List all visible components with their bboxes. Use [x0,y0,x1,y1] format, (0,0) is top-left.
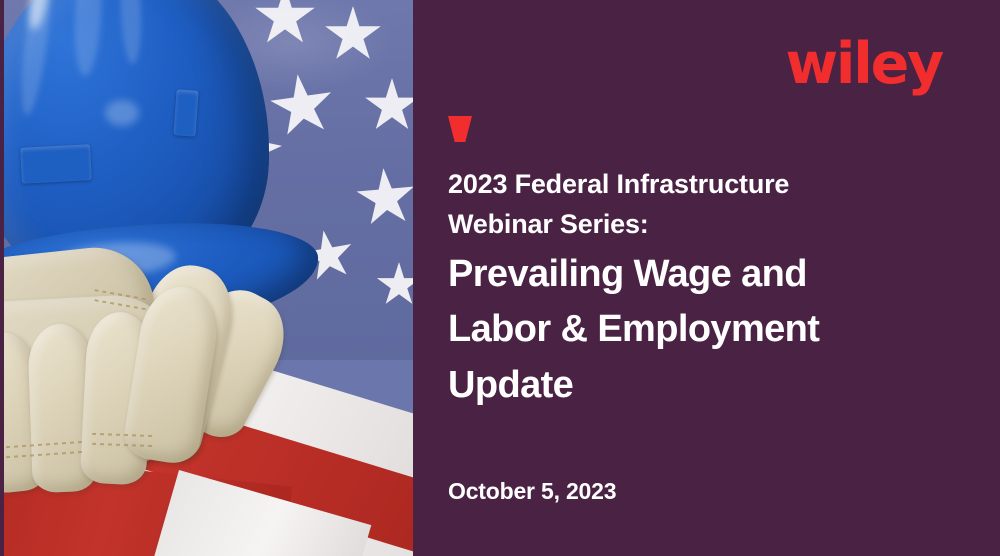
hero-photo [0,0,413,556]
hard-hat-ridge [72,0,104,77]
page-title-line-1: Prevailing Wage and [448,247,978,302]
hard-hat-clip [173,89,198,136]
red-triangle-icon [448,116,472,142]
series-eyebrow: 2023 Federal Infrastructure Webinar Seri… [448,165,968,244]
hero-photo-image [4,0,413,556]
series-eyebrow-line-2: Webinar Series: [448,205,968,245]
hard-hat-highlight [105,100,139,126]
page-title-line-3: Update [448,358,978,413]
event-date: October 5, 2023 [448,478,616,505]
series-eyebrow-line-1: 2023 Federal Infrastructure [448,165,968,205]
wiley-logo[interactable]: wiley [785,36,942,93]
hard-hat-ridge [119,0,143,64]
page-title: Prevailing Wage and Labor & Employment U… [448,247,978,413]
content-panel: wiley 2023 Federal Infrastructure Webina… [413,0,1000,556]
webinar-title-slide: wiley 2023 Federal Infrastructure Webina… [0,0,1000,556]
hard-hat-clip [20,144,92,184]
work-gloves [4,258,344,556]
page-title-line-2: Labor & Employment [448,302,978,357]
